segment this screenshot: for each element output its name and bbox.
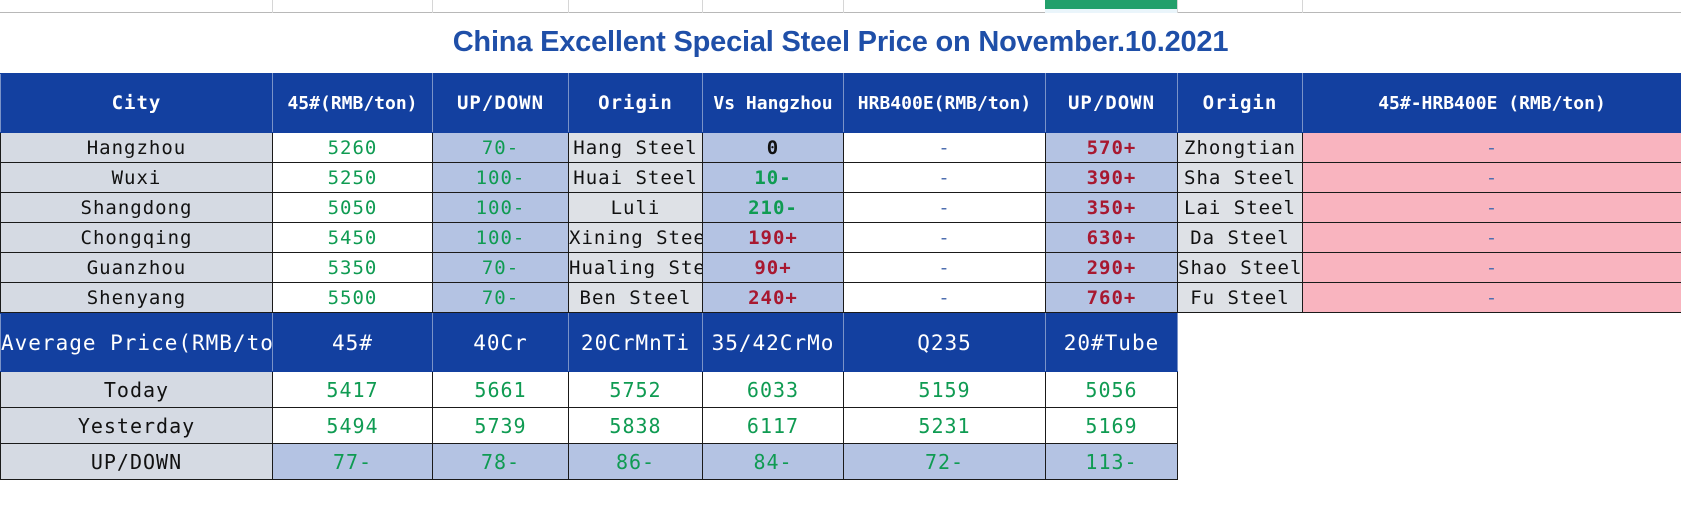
grid-tick xyxy=(272,0,273,13)
cell-vs-hangzhou[interactable]: 190+ xyxy=(703,223,844,253)
table-row[interactable]: Today 5417 5661 5752 6033 5159 5056 xyxy=(1,372,1681,408)
table-row[interactable]: Guanzhou 5350 70- Hualing Steel 90+ - 29… xyxy=(1,253,1681,283)
cell-city[interactable]: Hangzhou xyxy=(1,133,273,163)
cell-city[interactable]: Shenyang xyxy=(1,283,273,313)
empty-area xyxy=(1178,408,1681,444)
cell-origin-hrb[interactable]: Zhongtian xyxy=(1178,133,1303,163)
cell-hrb400e[interactable]: - xyxy=(844,163,1046,193)
average-price-table: Average Price(RMB/ton) 45# 40Cr 20CrMnTi… xyxy=(0,313,1681,480)
cell-price45[interactable]: 5260 xyxy=(273,133,433,163)
table-row[interactable]: Hangzhou 5260 70- Hang Steel 0 - 570+ Zh… xyxy=(1,133,1681,163)
cell-updown-45[interactable]: 100- xyxy=(433,193,569,223)
cell-updown-hrb[interactable]: 350+ xyxy=(1046,193,1178,223)
col-header-updown-hrb[interactable]: UP/DOWN xyxy=(1046,74,1178,133)
col-header-hrb400e[interactable]: HRB400E(RMB/ton) xyxy=(844,74,1046,133)
empty-area xyxy=(1178,444,1681,480)
cell-updown-45[interactable]: 70- xyxy=(433,283,569,313)
avg-row-label[interactable]: UP/DOWN xyxy=(1,444,273,480)
grid-tick xyxy=(568,0,569,13)
cell-hrb400e[interactable]: - xyxy=(844,253,1046,283)
table-row[interactable]: Yesterday 5494 5739 5838 6117 5231 5169 xyxy=(1,408,1681,444)
cell-price45[interactable]: 5500 xyxy=(273,283,433,313)
avg-value-20tube[interactable]: 5056 xyxy=(1046,372,1178,408)
grade-header-20crmnti[interactable]: 20CrMnTi xyxy=(569,314,703,372)
cell-origin-hrb[interactable]: Lai Steel xyxy=(1178,193,1303,223)
grade-header-q235[interactable]: Q235 xyxy=(844,314,1046,372)
cell-vs-hangzhou[interactable]: 90+ xyxy=(703,253,844,283)
col-header-origin-45[interactable]: Origin xyxy=(569,74,703,133)
spreadsheet-screenshot: China Excellent Special Steel Price on N… xyxy=(0,0,1681,511)
selected-cell-highlight[interactable] xyxy=(1045,0,1177,9)
avg-value-45[interactable]: 5494 xyxy=(273,408,433,444)
avg-value-3542crmo[interactable]: 6033 xyxy=(703,372,844,408)
avg-value-20crmnti[interactable]: 5838 xyxy=(569,408,703,444)
avg-updown-40cr[interactable]: 78- xyxy=(433,444,569,480)
grid-tick xyxy=(1177,0,1178,13)
grade-header-40cr[interactable]: 40Cr xyxy=(433,314,569,372)
table-row[interactable]: UP/DOWN 77- 78- 86- 84- 72- 113- xyxy=(1,444,1681,480)
grid-tick xyxy=(702,0,703,13)
cell-updown-hrb[interactable]: 290+ xyxy=(1046,253,1178,283)
avg-row-label[interactable]: Yesterday xyxy=(1,408,273,444)
avg-corner-label[interactable]: Average Price(RMB/ton) xyxy=(1,314,273,372)
avg-value-45[interactable]: 5417 xyxy=(273,372,433,408)
cell-hrb400e[interactable]: - xyxy=(844,283,1046,313)
avg-value-q235[interactable]: 5159 xyxy=(844,372,1046,408)
cell-origin-hrb[interactable]: Da Steel xyxy=(1178,223,1303,253)
avg-value-q235[interactable]: 5231 xyxy=(844,408,1046,444)
grid-tick xyxy=(1302,0,1303,13)
col-header-vs-hangzhou[interactable]: Vs Hangzhou xyxy=(703,74,844,133)
title-band: China Excellent Special Steel Price on N… xyxy=(0,13,1681,73)
cell-hrb400e[interactable]: - xyxy=(844,223,1046,253)
cell-city[interactable]: Guanzhou xyxy=(1,253,273,283)
table-row[interactable]: Wuxi 5250 100- Huai Steel 10- - 390+ Sha… xyxy=(1,163,1681,193)
cell-vs-hangzhou[interactable]: 10- xyxy=(703,163,844,193)
avg-updown-3542crmo[interactable]: 84- xyxy=(703,444,844,480)
empty-area xyxy=(1178,314,1681,372)
grade-header-20tube[interactable]: 20#Tube xyxy=(1046,314,1178,372)
cell-hrb400e[interactable]: - xyxy=(844,193,1046,223)
cell-price45[interactable]: 5050 xyxy=(273,193,433,223)
cell-origin-45[interactable]: Huai Steel xyxy=(569,163,703,193)
cell-price45[interactable]: 5250 xyxy=(273,163,433,193)
cell-origin-hrb[interactable]: Sha Steel xyxy=(1178,163,1303,193)
col-header-city[interactable]: City xyxy=(1,74,273,133)
cell-origin-45[interactable]: Ben Steel xyxy=(569,283,703,313)
cell-origin-45[interactable]: Luli xyxy=(569,193,703,223)
cell-origin-45[interactable]: Xining Steel xyxy=(569,223,703,253)
main-price-table: City 45#(RMB/ton) UP/DOWN Origin Vs Hang… xyxy=(0,73,1681,313)
grid-tick xyxy=(432,0,433,13)
grade-header-3542crmo[interactable]: 35/42CrMo xyxy=(703,314,844,372)
empty-area xyxy=(1178,372,1681,408)
avg-value-40cr[interactable]: 5739 xyxy=(433,408,569,444)
col-header-spread[interactable]: 45#-HRB400E (RMB/ton) xyxy=(1303,74,1681,133)
page-title: China Excellent Special Steel Price on N… xyxy=(453,26,1229,59)
spreadsheet-top-strip xyxy=(0,0,1681,13)
cell-vs-hangzhou[interactable]: 0 xyxy=(703,133,844,163)
col-header-updown-45[interactable]: UP/DOWN xyxy=(433,74,569,133)
cell-spread[interactable]: - xyxy=(1303,283,1681,313)
cell-vs-hangzhou[interactable]: 240+ xyxy=(703,283,844,313)
cell-spread[interactable]: - xyxy=(1303,223,1681,253)
col-header-origin-hrb[interactable]: Origin xyxy=(1178,74,1303,133)
avg-updown-20crmnti[interactable]: 86- xyxy=(569,444,703,480)
cell-updown-45[interactable]: 100- xyxy=(433,223,569,253)
cell-updown-45[interactable]: 70- xyxy=(433,133,569,163)
cell-spread[interactable]: - xyxy=(1303,193,1681,223)
cell-updown-45[interactable]: 100- xyxy=(433,163,569,193)
avg-updown-45[interactable]: 77- xyxy=(273,444,433,480)
cell-updown-hrb[interactable]: 760+ xyxy=(1046,283,1178,313)
cell-spread[interactable]: - xyxy=(1303,253,1681,283)
cell-origin-45[interactable]: Hang Steel xyxy=(569,133,703,163)
avg-updown-q235[interactable]: 72- xyxy=(844,444,1046,480)
table-row[interactable]: Shangdong 5050 100- Luli 210- - 350+ Lai… xyxy=(1,193,1681,223)
cell-spread[interactable]: - xyxy=(1303,133,1681,163)
cell-origin-45[interactable]: Hualing Steel xyxy=(569,253,703,283)
cell-updown-45[interactable]: 70- xyxy=(433,253,569,283)
cell-updown-hrb[interactable]: 630+ xyxy=(1046,223,1178,253)
avg-value-40cr[interactable]: 5661 xyxy=(433,372,569,408)
selected-cell-underline xyxy=(1045,9,1177,13)
grade-header-45[interactable]: 45# xyxy=(273,314,433,372)
avg-value-20tube[interactable]: 5169 xyxy=(1046,408,1178,444)
table-row[interactable]: Chongqing 5450 100- Xining Steel 190+ - … xyxy=(1,223,1681,253)
cell-city[interactable]: Wuxi xyxy=(1,163,273,193)
cell-city[interactable]: Chongqing xyxy=(1,223,273,253)
cell-updown-hrb[interactable]: 390+ xyxy=(1046,163,1178,193)
avg-value-20crmnti[interactable]: 5752 xyxy=(569,372,703,408)
col-header-price45[interactable]: 45#(RMB/ton) xyxy=(273,74,433,133)
table-row[interactable]: Shenyang 5500 70- Ben Steel 240+ - 760+ … xyxy=(1,283,1681,313)
avg-value-3542crmo[interactable]: 6117 xyxy=(703,408,844,444)
cell-city[interactable]: Shangdong xyxy=(1,193,273,223)
grid-tick xyxy=(843,0,844,13)
cell-price45[interactable]: 5450 xyxy=(273,223,433,253)
cell-updown-hrb[interactable]: 570+ xyxy=(1046,133,1178,163)
cell-origin-hrb[interactable]: Fu Steel xyxy=(1178,283,1303,313)
cell-spread[interactable]: - xyxy=(1303,163,1681,193)
average-table-header-row: Average Price(RMB/ton) 45# 40Cr 20CrMnTi… xyxy=(1,314,1681,372)
cell-vs-hangzhou[interactable]: 210- xyxy=(703,193,844,223)
avg-row-label[interactable]: Today xyxy=(1,372,273,408)
cell-price45[interactable]: 5350 xyxy=(273,253,433,283)
cell-hrb400e[interactable]: - xyxy=(844,133,1046,163)
main-table-header-row: City 45#(RMB/ton) UP/DOWN Origin Vs Hang… xyxy=(1,74,1681,133)
avg-updown-20tube[interactable]: 113- xyxy=(1046,444,1178,480)
cell-origin-hrb[interactable]: Shao Steel xyxy=(1178,253,1303,283)
